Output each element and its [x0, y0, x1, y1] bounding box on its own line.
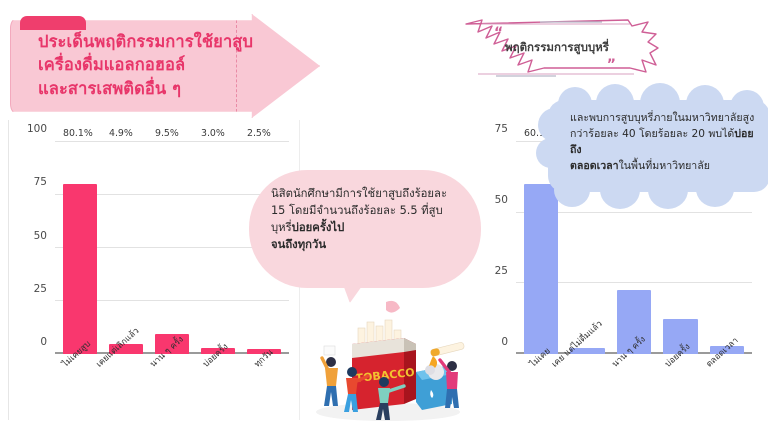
y-axis-tick-left: 100: [27, 123, 47, 135]
x-axis-labels-right: ไม่เคยเคย แต่ไม่ดื่มแล้วนาน ๆ ครั้งบ่อยค…: [516, 358, 752, 418]
x-label-slot: นาน ๆ ครั้ง: [611, 358, 657, 418]
blue-bubble-lobe-10: [648, 171, 688, 209]
tobacco-illustration: TOBACCO: [300, 300, 475, 425]
tobacco-illustration-svg: TOBACCO: [300, 300, 475, 425]
x-label-slot: เคย แต่ไม่ดื่มแล้ว: [564, 358, 610, 418]
y-axis-tick-right: 50: [495, 194, 508, 206]
bar-value-label: 80.1%: [63, 128, 93, 139]
section-title-text: พฤติกรรมการสูบบุหรี่: [452, 39, 662, 57]
pink-bubble-bold-2: จนถึงทุกวัน: [271, 238, 326, 251]
y-axis-tick-right: 25: [495, 265, 508, 277]
x-label-slot: ทุกวัน: [241, 358, 287, 418]
infographic-slide: ประเด็นพฤติกรรมการใช้ยาสูบ เครื่องดื่มแอ…: [0, 0, 768, 432]
blue-bubble-lobe-8: [554, 173, 590, 207]
main-title-line-3: และสารเสพติดอื่น ๆ: [38, 77, 263, 100]
x-axis-labels-left: ไม่เคยสูบเคยแต่เลิกแล้วนาน ๆ ครั้งบ่อยคร…: [55, 358, 289, 418]
blue-bubble-lobe-9: [600, 171, 640, 209]
bar-value-label: 2.5%: [247, 128, 271, 139]
pink-callout-bubble: นิสิตนักศึกษามีการใช้ยาสูบถึงร้อยละ 15 โ…: [249, 170, 481, 288]
y-axis-tick-left: 75: [34, 176, 47, 188]
main-title-text: ประเด็นพฤติกรรมการใช้ยาสูบ เครื่องดื่มแอ…: [38, 30, 263, 100]
bar[interactable]: 60.1%: [524, 184, 558, 354]
bar-slot: 4.9%: [103, 142, 149, 354]
section-title-banner: “ ” พฤติกรรมการสูบบุหรี่: [452, 18, 662, 80]
x-label-slot: บ่อยครั้ง: [657, 358, 703, 418]
blue-bubble-tail-text: ในพื้นที่มหาวิทยาลัย: [619, 160, 710, 172]
main-title-line-2: เครื่องดื่มแอลกอฮอล์: [38, 53, 263, 76]
main-title-ribbon: ประเด็นพฤติกรรมการใช้ยาสูบ เครื่องดื่มแอ…: [10, 14, 320, 118]
blue-bubble-lobe-11: [696, 171, 734, 207]
x-label-slot: ไม่เคยสูบ: [57, 358, 103, 418]
x-label-slot: นาน ๆ ครั้ง: [149, 358, 195, 418]
y-axis-tick-left: 0: [40, 336, 47, 348]
pink-bubble-bold-1: บ่อยครั้งไป: [292, 221, 345, 234]
bar-value-label: 3.0%: [201, 128, 225, 139]
y-axis-tick-right: 75: [495, 123, 508, 135]
blue-callout-bubble: และพบการสูบบุหรี่ภายในมหาวิทยาลัยสูงกว่า…: [548, 100, 768, 192]
person-left: [322, 346, 338, 406]
blue-bubble-bold-2: ตลอดเวลา: [570, 160, 619, 172]
x-label-slot: บ่อยครั้ง: [195, 358, 241, 418]
bar-slot: 80.1%: [57, 142, 103, 354]
y-axis-tick-right: 0: [501, 336, 508, 348]
bar-slot: 3.0%: [195, 142, 241, 354]
y-axis-tick-left: 50: [34, 230, 47, 242]
main-title-line-1: ประเด็นพฤติกรรมการใช้ยาสูบ: [38, 30, 263, 53]
quote-close-icon: ”: [607, 58, 616, 72]
quote-open-icon: “: [494, 26, 503, 40]
x-label-slot: ตลอดเวลา: [704, 358, 750, 418]
x-label-slot: เคยแต่เลิกแล้ว: [103, 358, 149, 418]
y-axis-tick-left: 25: [34, 283, 47, 295]
pink-bubble-text: นิสิตนักศึกษามีการใช้ยาสูบถึงร้อยละ 15 โ…: [249, 170, 481, 254]
bar-value-label: 4.9%: [109, 128, 133, 139]
bar-value-label: 9.5%: [155, 128, 179, 139]
blue-bubble-text: และพบการสูบบุหรี่ภายในมหาวิทยาลัยสูงกว่า…: [548, 100, 768, 175]
bar[interactable]: 80.1%: [63, 184, 97, 354]
blue-bubble-plain: และพบการสูบบุหรี่ภายในมหาวิทยาลัยสูงกว่า…: [570, 112, 754, 140]
ribbon-fold-accent: [20, 16, 86, 30]
bar-slot: 9.5%: [149, 142, 195, 354]
